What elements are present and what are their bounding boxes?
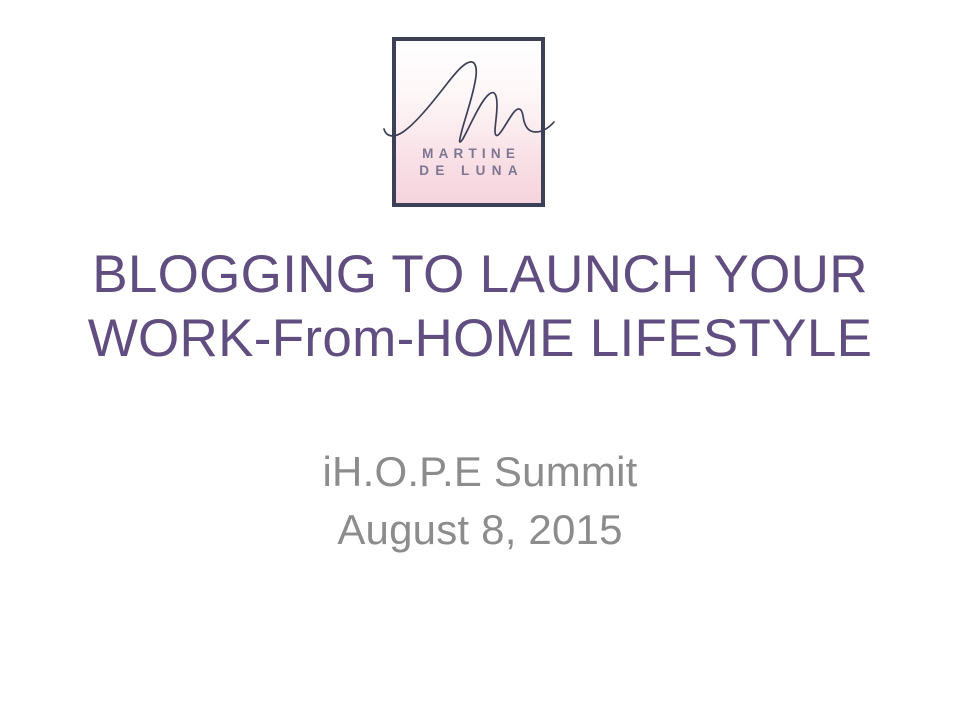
title-slide: MARTINE DE LUNA BLOGGING TO LAUNCH YOUR … bbox=[0, 0, 960, 720]
brand-logo: MARTINE DE LUNA bbox=[392, 37, 545, 207]
slide-title: BLOGGING TO LAUNCH YOUR WORK-From-HOME L… bbox=[0, 243, 960, 371]
slide-subtitle-event: iH.O.P.E Summit bbox=[0, 443, 960, 501]
logo-wordmark: MARTINE DE LUNA bbox=[392, 145, 545, 179]
slide-title-line2: WORK-From-HOME LIFESTYLE bbox=[0, 307, 960, 371]
logo-wordmark-line2: DE LUNA bbox=[392, 162, 545, 179]
slide-title-line1: BLOGGING TO LAUNCH YOUR bbox=[0, 243, 960, 307]
slide-subtitle: iH.O.P.E Summit August 8, 2015 bbox=[0, 443, 960, 559]
logo-frame bbox=[392, 37, 545, 207]
slide-subtitle-date: August 8, 2015 bbox=[0, 501, 960, 559]
logo-wordmark-line1: MARTINE bbox=[422, 146, 520, 161]
